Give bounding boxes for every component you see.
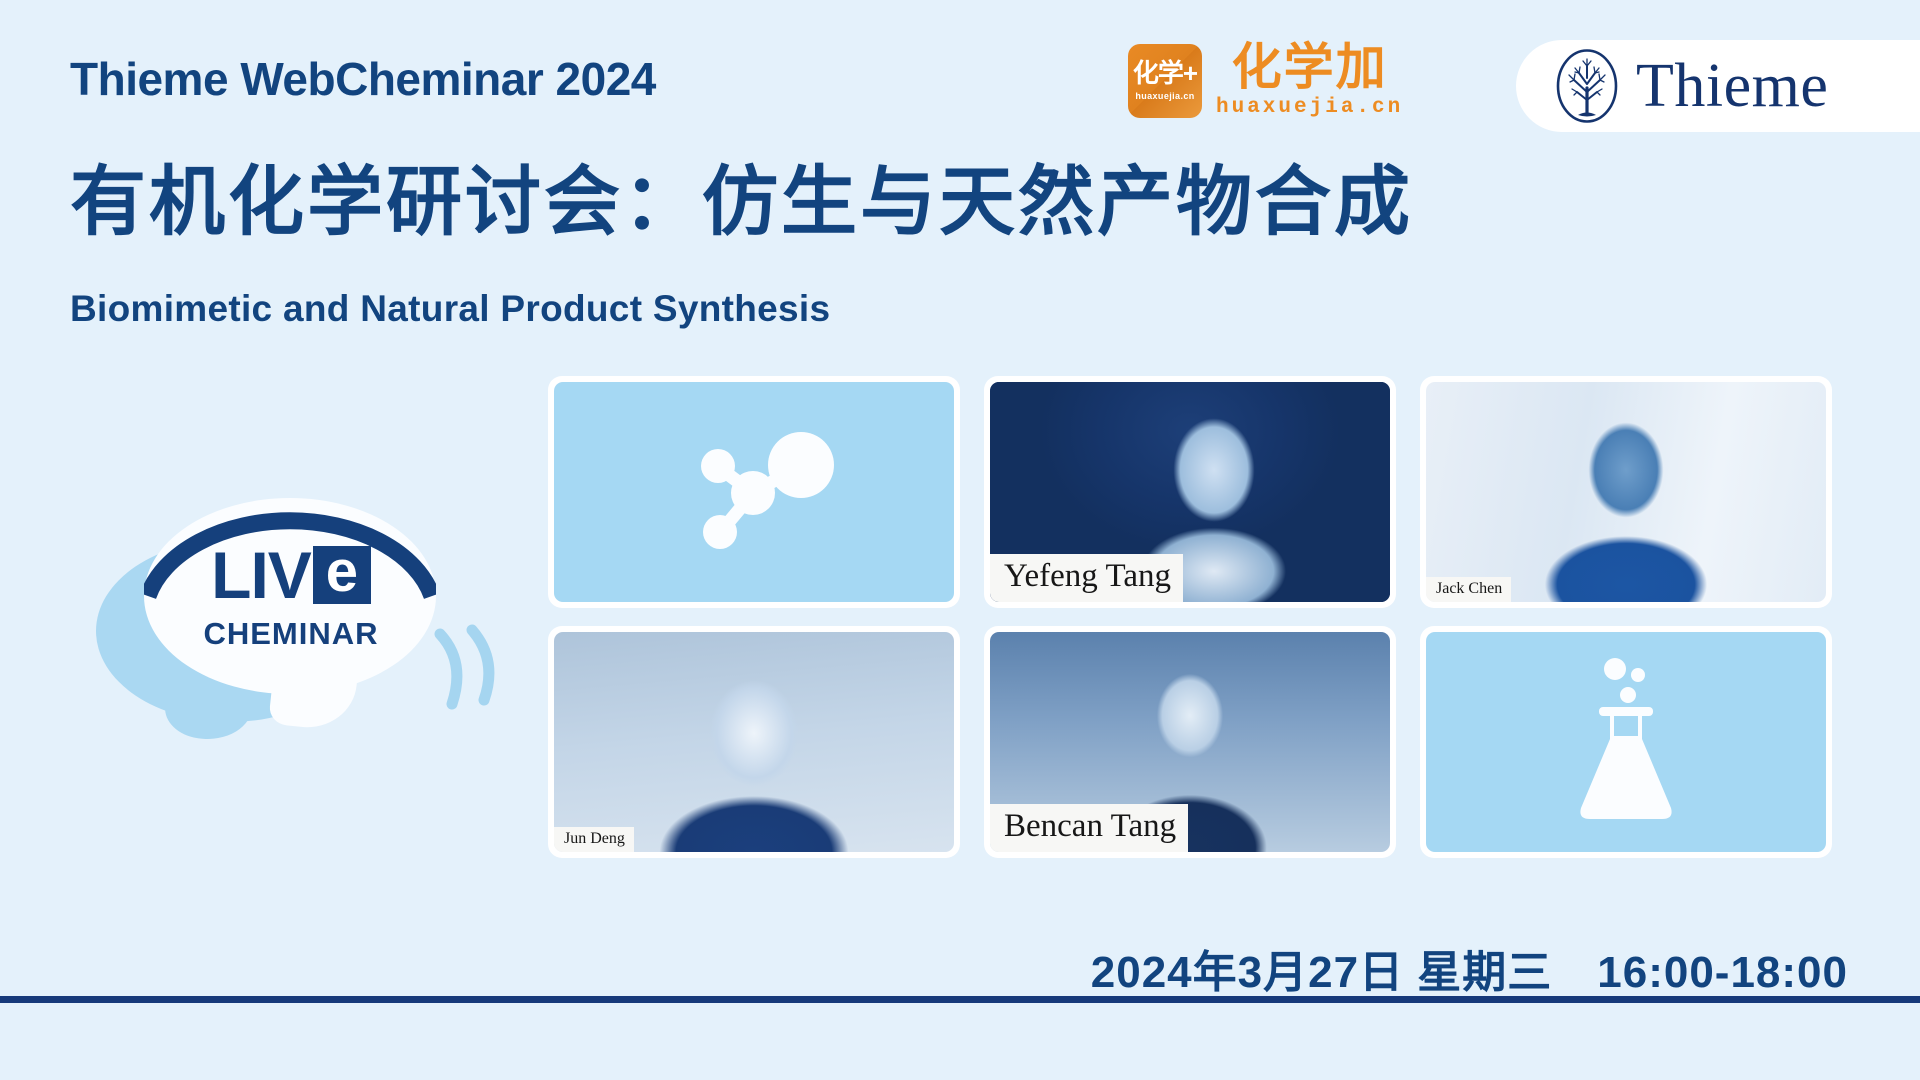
thieme-tree-emblem-icon (1556, 48, 1618, 124)
page-title-chinese: 有机化学研讨会：仿生与天然产物合成 (70, 140, 1413, 250)
tile-speaker-jun-deng: Jun Deng (548, 626, 960, 858)
huaxuejia-wordmark: 化学加 huaxuejia.cn (1216, 42, 1403, 119)
molecule-icon (649, 417, 859, 567)
huaxuejia-app-icon: 化学+ huaxuejia.cn (1128, 44, 1202, 118)
thieme-logo-panel[interactable]: Thieme (1516, 40, 1920, 132)
live-badge-text: LIV e CHEMINAR (166, 542, 416, 652)
tile-yefeng-inner: Yefeng Tang (990, 382, 1390, 602)
tile-jun-inner: Jun Deng (554, 632, 954, 852)
speaker-name-bencan-tang: Bencan Tang (990, 804, 1188, 852)
live-word: LIV (211, 542, 311, 608)
speaker-photo-jack-chen (1426, 382, 1826, 602)
flask-icon (1561, 653, 1691, 831)
speaker-name-jack-chen: Jack Chen (1426, 577, 1511, 602)
tile-bencan-inner: Bencan Tang (990, 632, 1390, 852)
speaker-photo-jun-deng (554, 632, 954, 852)
event-datetime: 2024年3月27日 星期三 16:00-18:00 (1091, 936, 1848, 1000)
event-series-title: Thieme WebCheminar 2024 (70, 52, 656, 106)
speaker-name-jun-deng: Jun Deng (554, 827, 634, 852)
tile-molecule-inner (554, 382, 954, 602)
page-title-english: Biomimetic and Natural Product Synthesis (70, 288, 830, 330)
tile-flask (1420, 626, 1832, 858)
tile-flask-inner (1426, 632, 1826, 852)
tile-jack-inner: Jack Chen (1426, 382, 1826, 602)
motion-lines-icon (426, 618, 536, 728)
tile-speaker-yefeng-tang: Yefeng Tang (984, 376, 1396, 608)
footer-rule (0, 996, 1920, 1003)
live-cheminar-badge: LIV e CHEMINAR (96, 498, 476, 748)
tile-speaker-bencan-tang: Bencan Tang (984, 626, 1396, 858)
live-e-box: e (313, 546, 371, 604)
huaxuejia-wordmark-domain: huaxuejia.cn (1216, 96, 1403, 119)
huaxuejia-logo[interactable]: 化学+ huaxuejia.cn 化学加 huaxuejia.cn (1128, 42, 1403, 119)
thieme-wordmark: Thieme (1636, 55, 1828, 117)
huaxuejia-icon-label: 化学+ (1133, 60, 1197, 86)
tile-speaker-jack-chen: Jack Chen (1420, 376, 1832, 608)
speaker-name-yefeng-tang: Yefeng Tang (990, 554, 1183, 602)
cheminar-word: CHEMINAR (166, 616, 416, 652)
huaxuejia-wordmark-cn: 化学加 (1232, 42, 1388, 92)
huaxuejia-icon-domain: huaxuejia.cn (1135, 91, 1194, 101)
speaker-grid: Yefeng Tang Jack Chen Jun Deng Bencan Ta… (548, 376, 1832, 858)
tile-molecule (548, 376, 960, 608)
